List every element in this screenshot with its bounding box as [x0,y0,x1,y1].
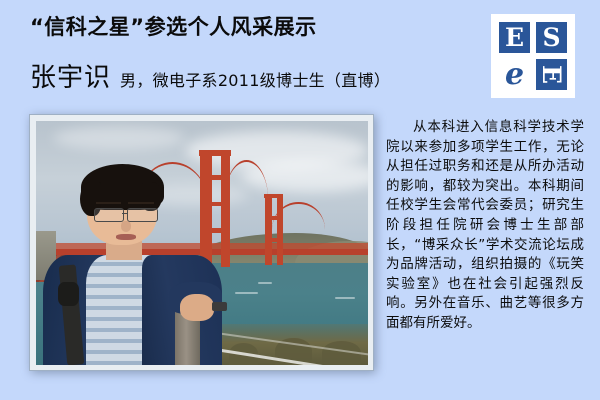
person-identity-line: 张宇识男，微电子系2011级博士生（直博） [30,62,390,97]
photo-bridge-tower-crossbeam [200,228,230,233]
photo-bridge-tower [277,197,283,265]
photo-wake [335,297,355,299]
logo-letter-e-icon: E [499,22,530,53]
logo-letter-e-rotated-icon: E [536,59,567,90]
photo-bridge-tower-crossbeam [265,238,282,241]
logo-letter-2: S [542,23,560,52]
photo-bridge-tower-crossbeam [200,175,230,180]
photo-bridge-tower-crossbeam [264,194,283,198]
photo-bridge-tower-crossbeam [199,150,231,156]
person-meta: 男，微电子系2011级博士生（直博） [120,71,390,90]
logo-letter-e-script-icon: e [499,59,530,90]
photo-wake [258,282,271,284]
logo-letter-s-icon: S [536,22,567,53]
photo-bridge-tower-crossbeam [200,202,230,207]
logo-grid: E S e E [499,22,567,90]
photo-bridge-tower-crossbeam [265,216,282,219]
photo-person-glasses-lens [94,208,124,222]
logo-letter-4: E [536,65,567,84]
photo-person-backpack-pouch [58,282,80,306]
photo-bridge-tower [221,153,230,268]
logo-letter-3: e [505,59,524,90]
photo-wake [235,292,258,294]
person-name: 张宇识 [30,63,111,93]
description-text: 从本科进入信息科学技术学院以来参加多项学生工作，无论从担任过职务和还是从所办活动… [386,118,584,334]
photo-person-eyebrow [96,202,121,204]
photo-person-mouth [116,234,136,240]
portrait-photo [36,121,368,365]
photo-person-glasses-bridge [122,213,127,214]
photo-bridge-cable [225,160,268,238]
photo-bridge-tower [200,153,211,268]
logo-letter-1: E [505,23,524,52]
page-title: “信科之星”参选个人风采展示 [30,12,317,42]
photo-frame [29,114,374,371]
slide-canvas: “信科之星”参选个人风采展示 张宇识男，微电子系2011级博士生（直博） E S… [0,0,600,400]
photo-person-eyebrow [128,202,153,204]
photo-bridge-tower [265,197,272,265]
photo-person-watch [212,302,227,312]
photo-person-hand [180,294,213,321]
photo-person-glasses-lens [127,208,157,222]
esc-logo: E S e E [491,14,575,98]
